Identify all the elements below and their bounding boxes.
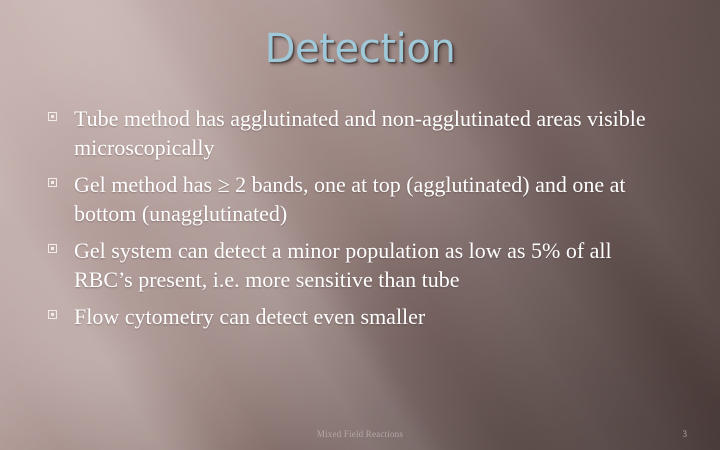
- slide-title: Detection: [0, 26, 720, 72]
- bullet-item-3: Gel system can detect a minor population…: [48, 236, 688, 294]
- slide-footer-note: Mixed Field Reactions: [0, 428, 720, 440]
- nested-square-bullet-icon: [48, 302, 74, 319]
- bullet-item-4-text: Flow cytometry can detect even smaller: [74, 302, 654, 331]
- nested-square-bullet-icon: [48, 236, 74, 253]
- bullet-item-2-text: Gel method has ≥ 2 bands, one at top (ag…: [74, 170, 654, 228]
- presentation-slide: Detection Tube method has agglutinated a…: [0, 0, 720, 450]
- bullet-item-1-text: Tube method has agglutinated and non-agg…: [74, 104, 654, 162]
- bullet-item-1: Tube method has agglutinated and non-agg…: [48, 104, 688, 162]
- nested-square-bullet-icon: [48, 170, 74, 187]
- slide-body-content: Tube method has agglutinated and non-agg…: [48, 104, 688, 339]
- bullet-item-3-text: Gel system can detect a minor population…: [74, 236, 654, 294]
- bullet-item-4: Flow cytometry can detect even smaller: [48, 302, 688, 331]
- nested-square-bullet-icon: [48, 104, 74, 121]
- bullet-item-2: Gel method has ≥ 2 bands, one at top (ag…: [48, 170, 688, 228]
- slide-page-number: 3: [683, 428, 688, 440]
